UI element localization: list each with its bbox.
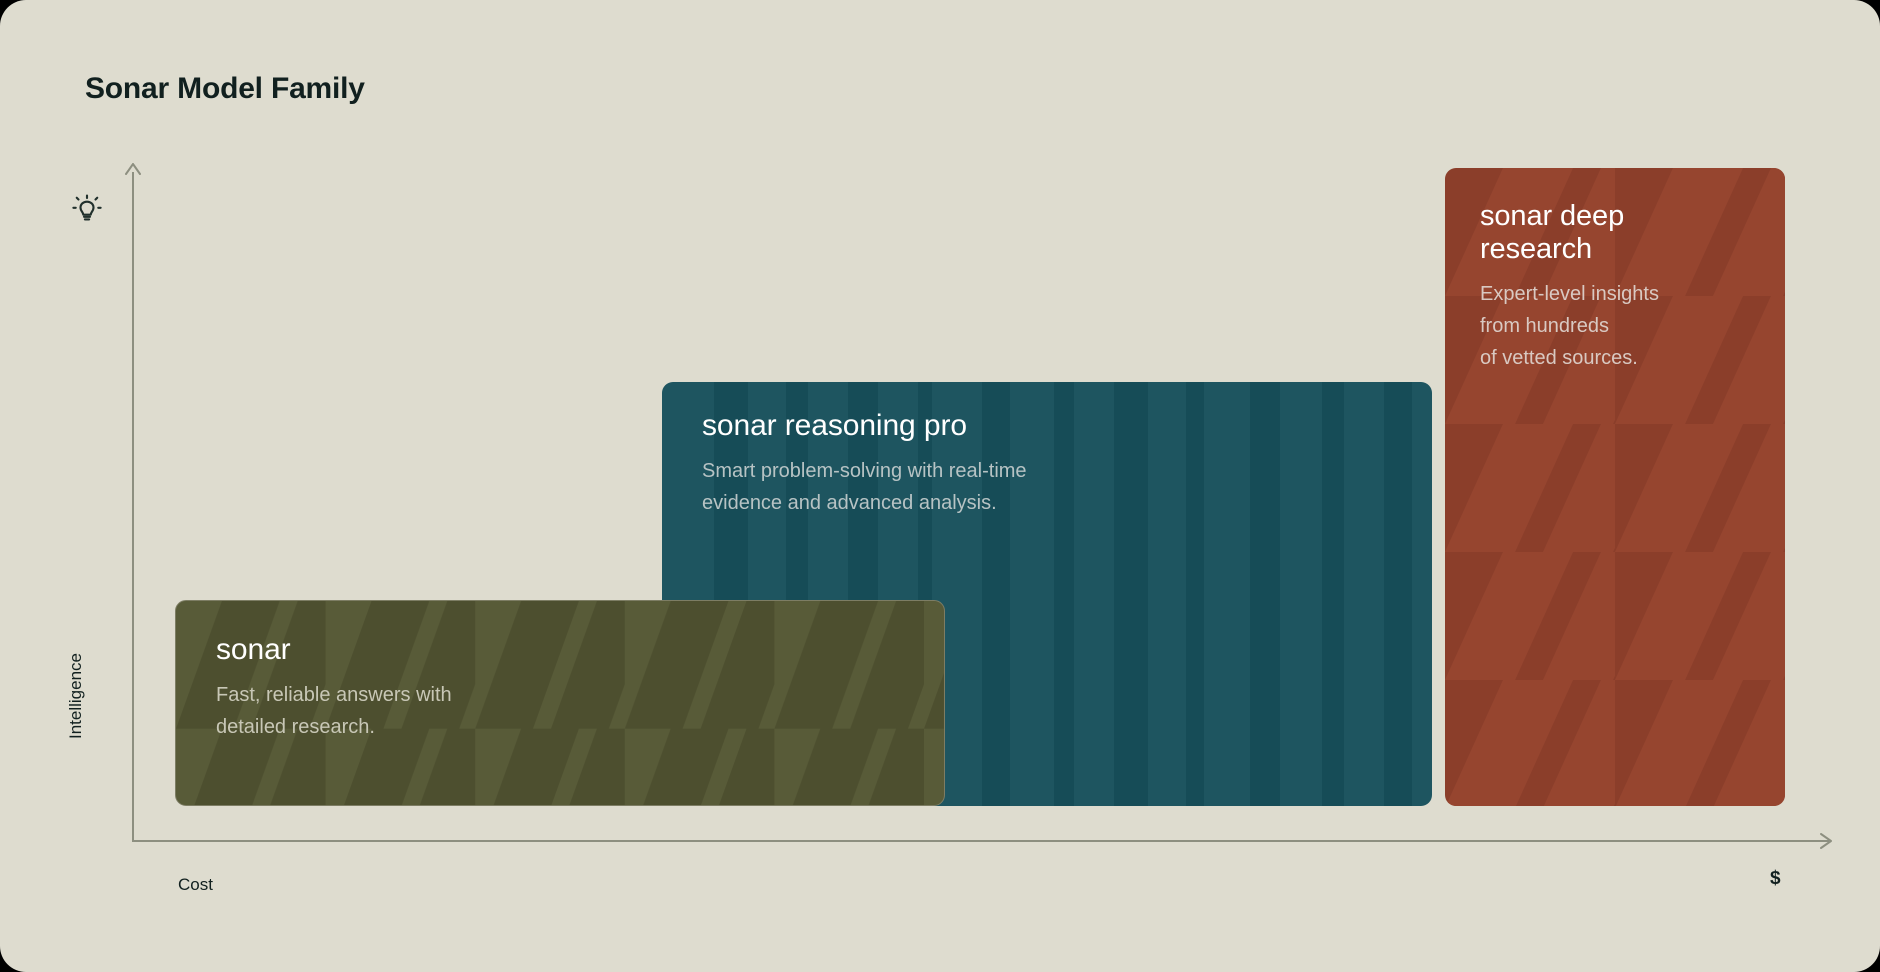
bar-description-deep-research: Expert-level insights from hundreds of v… [1480,278,1785,375]
bar-sonar-deep-research[interactable]: sonar deep research Expert-level insight… [1445,168,1785,806]
page-title: Sonar Model Family [85,72,365,106]
bar-title-deep-research: sonar deep research [1480,200,1785,266]
bar-label-group-deep-research: sonar deep research Expert-level insight… [1445,168,1785,375]
x-axis-arrow-icon [1812,830,1834,852]
lightbulb-icon [72,194,102,224]
bar-description-reasoning-pro: Smart problem-solving with real-time evi… [702,455,1432,520]
y-axis-line [132,172,134,842]
bar-sonar[interactable]: sonar Fast, reliable answers with detail… [175,600,945,806]
bar-label-group-sonar: sonar Fast, reliable answers with detail… [176,601,944,744]
y-axis-arrow-icon [122,162,144,184]
x-axis-line [132,840,1829,842]
bar-description-sonar: Fast, reliable answers with detailed res… [216,679,944,744]
y-axis-label: Intelligence [66,616,86,776]
x-axis-unit-label: $ [1770,868,1781,890]
x-axis-label: Cost [178,875,213,895]
bar-title-sonar: sonar [216,633,944,667]
bar-label-group-reasoning-pro: sonar reasoning pro Smart problem-solvin… [662,382,1432,520]
bar-title-reasoning-pro: sonar reasoning pro [702,409,1432,443]
chart-canvas: Sonar Model Family Intelligence Cost $ s… [0,0,1880,972]
